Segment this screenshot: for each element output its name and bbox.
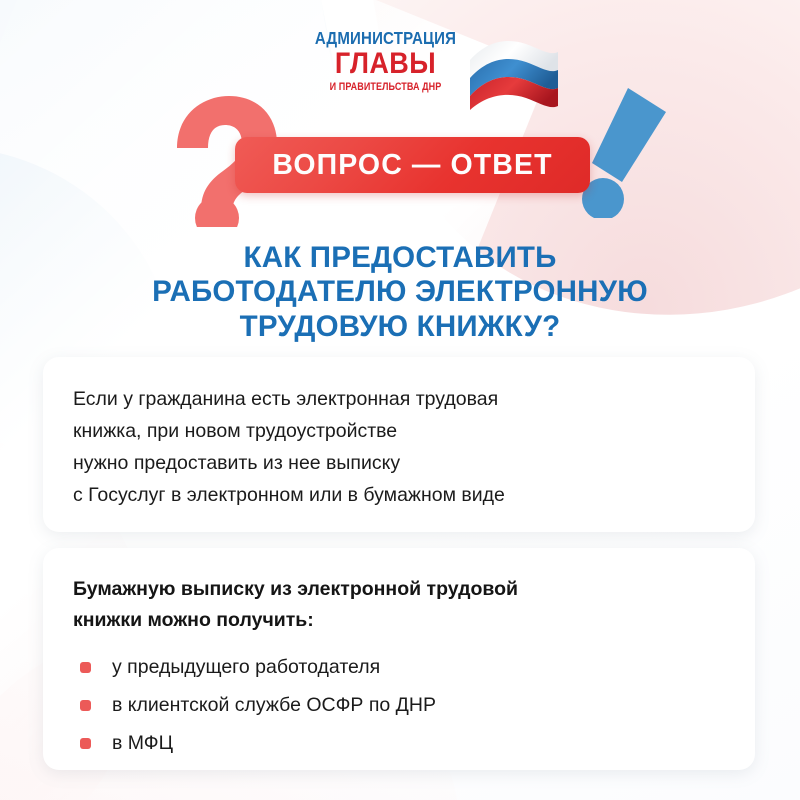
answer-line-3: нужно предоставить из нее выписку [73, 447, 725, 479]
logo-line-head: ГЛАВЫ [307, 48, 465, 80]
answer-card: Если у гражданина есть электронная трудо… [43, 357, 755, 532]
list-item-label: у предыдущего работодателя [112, 655, 380, 679]
infographic-page: АДМИНИСТРАЦИЯ ГЛАВЫ И ПРАВИТЕЛЬСТВА ДНР [0, 0, 800, 800]
page-title-line-3: ТРУДОВУЮ КНИЖКУ? [60, 310, 740, 345]
answer-line-4: с Госуслуг в электронном или в бумажном … [73, 479, 725, 511]
where-lead-line-2: книжки можно получить: [73, 605, 725, 636]
organization-logo: АДМИНИСТРАЦИЯ ГЛАВЫ И ПРАВИТЕЛЬСТВА ДНР [290, 28, 560, 114]
question-answer-banner: ВОПРОС — ОТВЕТ [235, 137, 590, 193]
logo-line-government: И ПРАВИТЕЛЬСТВА ДНР [314, 80, 458, 94]
page-title-line-1: КАК ПРЕДОСТАВИТЬ [60, 241, 740, 276]
bullet-dot-icon [80, 662, 91, 673]
list-item: в МФЦ [73, 724, 725, 762]
banner-label: ВОПРОС — ОТВЕТ [272, 149, 552, 182]
answer-line-2: книжка, при новом трудоустройстве [73, 415, 725, 447]
list-item-label: в МФЦ [112, 731, 173, 755]
page-title: КАК ПРЕДОСТАВИТЬ РАБОТОДАТЕЛЮ ЭЛЕКТРОННУ… [60, 241, 740, 345]
page-title-line-2: РАБОТОДАТЕЛЮ ЭЛЕКТРОННУЮ [60, 275, 740, 310]
list-item: в клиентской службе ОСФР по ДНР [73, 686, 725, 724]
where-to-get-card-body: Бумажную выписку из электронной трудовой… [43, 548, 755, 762]
where-to-get-list: у предыдущего работодателя в клиентской … [73, 648, 725, 762]
answer-card-body: Если у гражданина есть электронная трудо… [43, 357, 755, 511]
bullet-dot-icon [80, 738, 91, 749]
bullet-dot-icon [80, 700, 91, 711]
list-item-label: в клиентской службе ОСФР по ДНР [112, 693, 436, 717]
logo-line-administration: АДМИНИСТРАЦИЯ [310, 28, 461, 48]
list-item: у предыдущего работодателя [73, 648, 725, 686]
logo-wordmark: АДМИНИСТРАЦИЯ ГЛАВЫ И ПРАВИТЕЛЬСТВА ДНР [298, 28, 473, 94]
russian-flag-icon [468, 34, 560, 112]
where-lead-line-1: Бумажную выписку из электронной трудовой [73, 574, 725, 605]
where-to-get-card: Бумажную выписку из электронной трудовой… [43, 548, 755, 770]
exclamation-mark-icon [582, 86, 692, 218]
answer-line-1: Если у гражданина есть электронная трудо… [73, 383, 725, 415]
